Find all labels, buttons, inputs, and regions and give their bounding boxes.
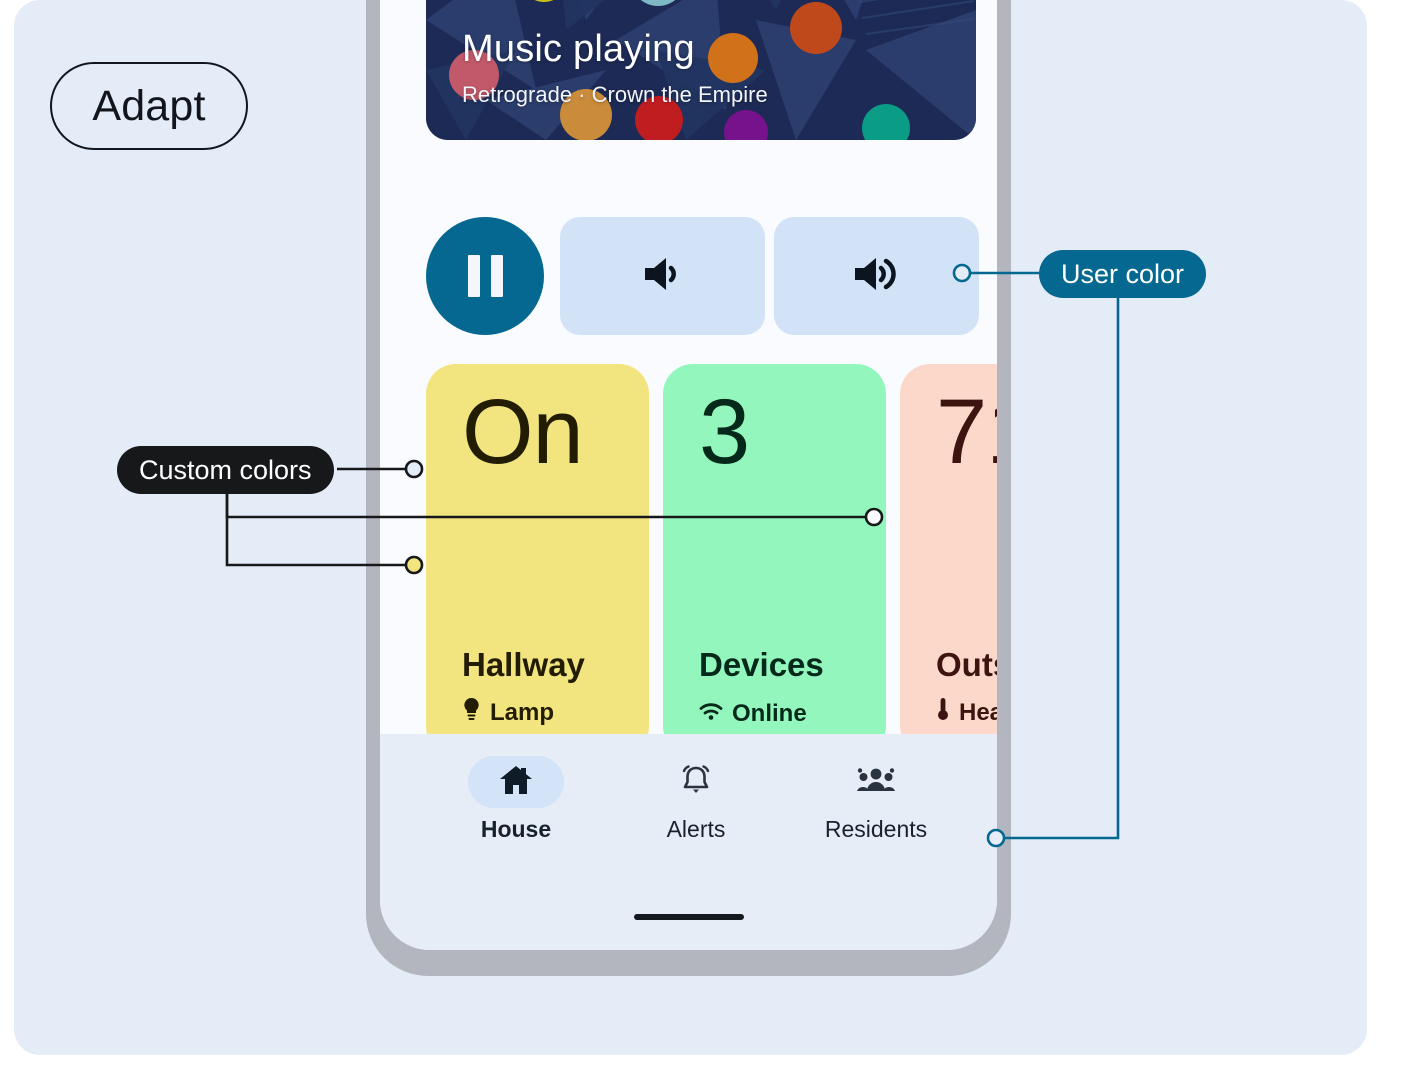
tile-name: Hallway (462, 646, 585, 684)
tile-value: 71 (936, 386, 997, 478)
nav-item-house[interactable]: House (426, 756, 606, 843)
tile-value: 3 (699, 386, 749, 478)
volume-up-icon (852, 254, 902, 299)
tile-value: On (462, 386, 583, 478)
tile-status-label: Online (732, 700, 807, 728)
tile-status: Lamp (462, 697, 554, 728)
wifi-icon (699, 700, 723, 728)
lightbulb-icon (462, 697, 481, 728)
volume-down-icon (641, 255, 685, 298)
callout-label: Custom colors (139, 455, 312, 486)
bell-icon (679, 763, 713, 802)
volume-up-button[interactable] (774, 217, 979, 335)
tile-status: Heating (936, 697, 997, 728)
volume-down-button[interactable] (560, 217, 765, 335)
adapt-badge-label: Adapt (92, 82, 205, 131)
home-icon (499, 764, 533, 801)
nav-pill (648, 756, 744, 808)
tile-name: Devices (699, 646, 824, 684)
tile-devices[interactable]: 3 Devices Online (663, 364, 886, 756)
tile-status-label: Heating (959, 699, 997, 727)
tile-status-label: Lamp (490, 699, 554, 727)
home-indicator (634, 914, 744, 920)
adapt-badge: Adapt (50, 62, 248, 150)
thermometer-icon (936, 697, 950, 728)
people-icon (856, 766, 896, 799)
nav-label: House (481, 816, 551, 843)
nav-item-residents[interactable]: Residents (786, 756, 966, 843)
tile-outside[interactable]: 71 Outside Heating (900, 364, 997, 756)
callout-user-color: User color (1039, 250, 1206, 298)
nav-item-alerts[interactable]: Alerts (606, 756, 786, 843)
now-playing-card[interactable]: 3 speakers Music playing Retrograde · Cr… (426, 0, 976, 140)
transport-controls (426, 217, 986, 335)
callout-label: User color (1061, 259, 1184, 290)
tile-name: Outside (936, 646, 997, 684)
tile-row: On Hallway Lamp 3 (426, 364, 997, 756)
callout-custom-colors: Custom colors (117, 446, 334, 494)
now-playing-title: Music playing (462, 28, 695, 71)
tile-hallway[interactable]: On Hallway Lamp (426, 364, 649, 756)
now-playing-subtitle: Retrograde · Crown the Empire (462, 82, 768, 108)
nav-label: Residents (825, 816, 927, 843)
nav-label: Alerts (667, 816, 726, 843)
phone-frame: 3 speakers Music playing Retrograde · Cr… (366, 0, 1011, 976)
pause-icon (468, 255, 503, 297)
nav-active-pill (468, 756, 564, 808)
bottom-navigation: House (380, 734, 997, 950)
nav-pill (828, 756, 924, 808)
pause-button[interactable] (426, 217, 544, 335)
phone-screen: 3 speakers Music playing Retrograde · Cr… (380, 0, 997, 950)
screenshot-stage: Adapt (0, 0, 1421, 1070)
tile-status: Online (699, 700, 807, 728)
